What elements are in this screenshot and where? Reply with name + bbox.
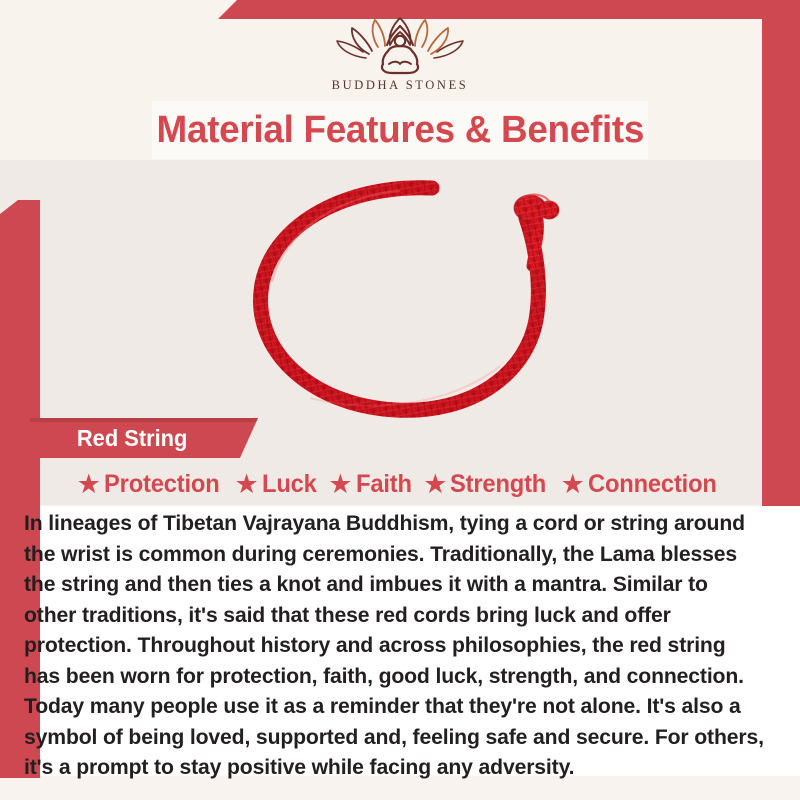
benefit-item-strength: ★ Strength: [423, 470, 551, 499]
product-label-banner: Red String: [30, 418, 258, 458]
benefit-label: Luck: [262, 470, 317, 499]
benefits-list: ★ Protection ★ Luck ★ Faith ★ Strength ★…: [40, 464, 760, 504]
benefit-item-faith: ★ Faith: [328, 470, 414, 499]
star-icon: ★: [423, 471, 447, 498]
benefit-item-connection: ★ Connection: [561, 470, 724, 499]
benefit-item-luck: ★ Luck: [235, 470, 320, 499]
lotus-meditation-figure-icon: [330, 14, 470, 76]
benefit-label: Protection: [104, 470, 220, 499]
brand-logo: BUDDHA STONES: [0, 14, 800, 93]
benefit-label: Connection: [588, 470, 717, 499]
benefit-label: Strength: [450, 470, 546, 499]
description-text: In lineages of Tibetan Vajrayana Buddhis…: [24, 508, 765, 783]
star-icon: ★: [77, 471, 101, 498]
benefit-item-protection: ★ Protection: [77, 470, 226, 499]
brand-name: BUDDHA STONES: [332, 78, 469, 93]
infographic-page: BUDDHA STONES Material Features & Benefi…: [0, 0, 800, 800]
product-label: Red String: [77, 425, 187, 452]
red-string-bracelet-illustration: [200, 160, 620, 430]
benefit-label: Faith: [356, 470, 412, 499]
title-band: Material Features & Benefits: [152, 101, 648, 159]
star-icon: ★: [235, 471, 259, 498]
star-icon: ★: [328, 471, 352, 498]
star-icon: ★: [561, 471, 585, 498]
product-image: [200, 160, 620, 430]
page-title: Material Features & Benefits: [156, 109, 644, 152]
